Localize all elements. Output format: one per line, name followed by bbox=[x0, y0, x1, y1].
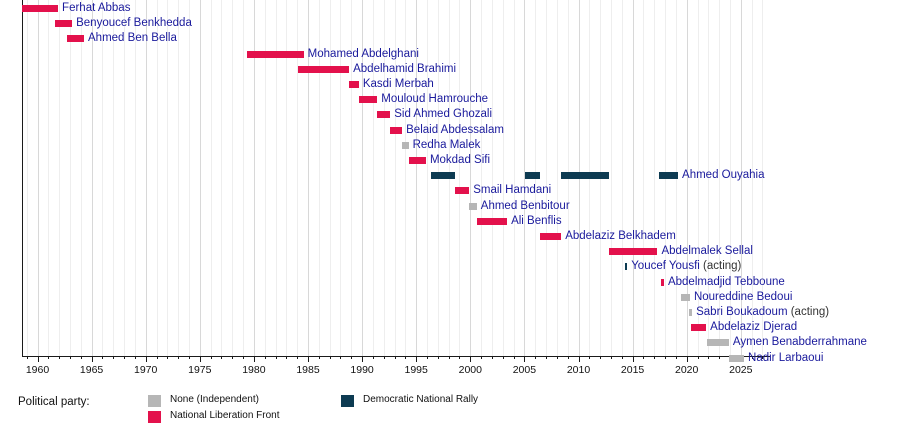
timeline-row[interactable]: Ali Benflis bbox=[0, 217, 900, 232]
person-name: Kasdi Merbah bbox=[363, 78, 434, 90]
person-name: Noureddine Bedoui bbox=[694, 291, 792, 303]
person-name: Sid Ahmed Ghozali bbox=[394, 108, 492, 120]
timeline-row-label: Mokdad Sifi bbox=[430, 155, 490, 166]
person-name: Abdelmalek Sellal bbox=[661, 245, 752, 257]
person-name: Ferhat Abbas bbox=[62, 2, 130, 14]
timeline-row-label: Benyoucef Benkhedda bbox=[76, 18, 192, 29]
person-name: Sabri Boukadoum bbox=[696, 306, 787, 318]
timeline-row-label: Smail Hamdani bbox=[473, 185, 551, 196]
timeline-row-label: Sabri Boukadoum (acting) bbox=[696, 307, 829, 318]
timeline-row-label: Abdelaziz Belkhadem bbox=[565, 231, 676, 242]
timeline-row-label: Ferhat Abbas bbox=[62, 3, 130, 14]
timeline-row[interactable]: Abdelaziz Belkhadem bbox=[0, 232, 900, 247]
timeline-row-label: Youcef Yousfi (acting) bbox=[631, 261, 741, 272]
timeline-bar[interactable] bbox=[409, 157, 426, 164]
timeline-bar[interactable] bbox=[707, 339, 729, 346]
timeline-bar[interactable] bbox=[661, 279, 664, 286]
timeline-row-label: Abdelmadjid Tebboune bbox=[668, 277, 785, 288]
person-name: Youcef Yousfi bbox=[631, 260, 700, 272]
timeline-bar[interactable] bbox=[55, 20, 72, 27]
legend-label: Democratic National Rally bbox=[363, 394, 478, 405]
timeline-bar[interactable] bbox=[469, 203, 477, 210]
timeline-bar[interactable] bbox=[625, 263, 627, 270]
legend-title: Political party: bbox=[18, 396, 90, 408]
timeline-bar[interactable] bbox=[298, 66, 349, 73]
timeline-bar[interactable] bbox=[477, 218, 507, 225]
timeline-row[interactable]: Mokdad Sifi bbox=[0, 156, 900, 171]
timeline-row[interactable]: Abdelmalek Sellal bbox=[0, 247, 900, 262]
person-name: Ahmed Benbitour bbox=[481, 200, 570, 212]
person-name: Abdelaziz Belkhadem bbox=[565, 230, 676, 242]
timeline-row-label: Abdelmalek Sellal bbox=[661, 246, 752, 257]
person-name: Ahmed Ben Bella bbox=[88, 32, 177, 44]
timeline-bar[interactable] bbox=[659, 172, 678, 179]
timeline-row-label: Ahmed Ouyahia bbox=[682, 170, 764, 181]
timeline-row[interactable]: Ahmed Ben Bella bbox=[0, 34, 900, 49]
timeline-bar[interactable] bbox=[691, 324, 706, 331]
chart-legend: Political party: None (Independent)Natio… bbox=[0, 388, 900, 433]
plot-area: 1960196519701975198019851990199520002005… bbox=[0, 0, 900, 372]
timeline-bar[interactable] bbox=[349, 81, 359, 88]
timeline-bar[interactable] bbox=[729, 355, 744, 362]
timeline-row[interactable]: Abdelhamid Brahimi bbox=[0, 65, 900, 80]
timeline-bar[interactable] bbox=[359, 96, 377, 103]
timeline-bar[interactable] bbox=[431, 172, 455, 179]
timeline-row[interactable]: Ahmed Ouyahia bbox=[0, 171, 900, 186]
timeline-row-label: Kasdi Merbah bbox=[363, 79, 434, 90]
person-name: Mohamed Abdelghani bbox=[308, 48, 419, 60]
person-name: Smail Hamdani bbox=[473, 184, 551, 196]
timeline-row-label: Nadir Larbaoui bbox=[748, 353, 823, 364]
person-name: Abdelaziz Djerad bbox=[710, 321, 797, 333]
timeline-bar[interactable] bbox=[22, 5, 58, 12]
acting-suffix: (acting) bbox=[700, 260, 742, 272]
timeline-bar[interactable] bbox=[681, 294, 690, 301]
timeline-chart: 1960196519701975198019851990199520002005… bbox=[0, 0, 900, 433]
person-name: Belaid Abdessalam bbox=[406, 124, 504, 136]
timeline-row-label: Abdelhamid Brahimi bbox=[353, 64, 456, 75]
legend-label: National Liberation Front bbox=[170, 410, 280, 421]
timeline-bar[interactable] bbox=[689, 309, 692, 316]
timeline-row-label: Sid Ahmed Ghozali bbox=[394, 109, 492, 120]
timeline-row-label: Ali Benflis bbox=[511, 216, 562, 227]
legend-label: None (Independent) bbox=[170, 394, 259, 405]
person-name: Mouloud Hamrouche bbox=[381, 93, 488, 105]
timeline-bar[interactable] bbox=[540, 233, 562, 240]
timeline-row-label: Mouloud Hamrouche bbox=[381, 94, 488, 105]
timeline-row-label: Ahmed Ben Bella bbox=[88, 33, 177, 44]
person-name: Ahmed Ouyahia bbox=[682, 169, 764, 181]
timeline-row[interactable]: Smail Hamdani bbox=[0, 186, 900, 201]
timeline-bar[interactable] bbox=[609, 248, 658, 255]
timeline-bar[interactable] bbox=[390, 127, 402, 134]
timeline-row[interactable]: Ahmed Benbitour bbox=[0, 202, 900, 217]
timeline-row-label: Redha Malek bbox=[413, 140, 481, 151]
timeline-row-label: Abdelaziz Djerad bbox=[710, 322, 797, 333]
timeline-bar[interactable] bbox=[402, 142, 408, 149]
person-name: Redha Malek bbox=[413, 139, 481, 151]
person-name: Benyoucef Benkhedda bbox=[76, 17, 192, 29]
person-name: Abdelhamid Brahimi bbox=[353, 63, 456, 75]
timeline-row-label: Aymen Benabderrahmane bbox=[733, 337, 867, 348]
timeline-row[interactable]: Nadir Larbaoui bbox=[0, 354, 900, 369]
person-name: Nadir Larbaoui bbox=[748, 352, 823, 364]
timeline-bar[interactable] bbox=[525, 172, 539, 179]
person-name: Abdelmadjid Tebboune bbox=[668, 276, 785, 288]
timeline-row-label: Ahmed Benbitour bbox=[481, 201, 570, 212]
legend-swatch bbox=[148, 411, 161, 423]
person-name: Aymen Benabderrahmane bbox=[733, 336, 867, 348]
timeline-bar[interactable] bbox=[455, 187, 469, 194]
legend-swatch bbox=[148, 395, 161, 407]
acting-suffix: (acting) bbox=[788, 306, 830, 318]
timeline-bar[interactable] bbox=[67, 35, 84, 42]
legend-swatch bbox=[341, 395, 354, 407]
timeline-bar[interactable] bbox=[561, 172, 609, 179]
timeline-bar[interactable] bbox=[377, 111, 390, 118]
person-name: Mokdad Sifi bbox=[430, 154, 490, 166]
timeline-row-label: Mohamed Abdelghani bbox=[308, 49, 419, 60]
timeline-bar[interactable] bbox=[247, 51, 303, 58]
person-name: Ali Benflis bbox=[511, 215, 562, 227]
timeline-row-label: Belaid Abdessalam bbox=[406, 125, 504, 136]
timeline-row-label: Noureddine Bedoui bbox=[694, 292, 792, 303]
